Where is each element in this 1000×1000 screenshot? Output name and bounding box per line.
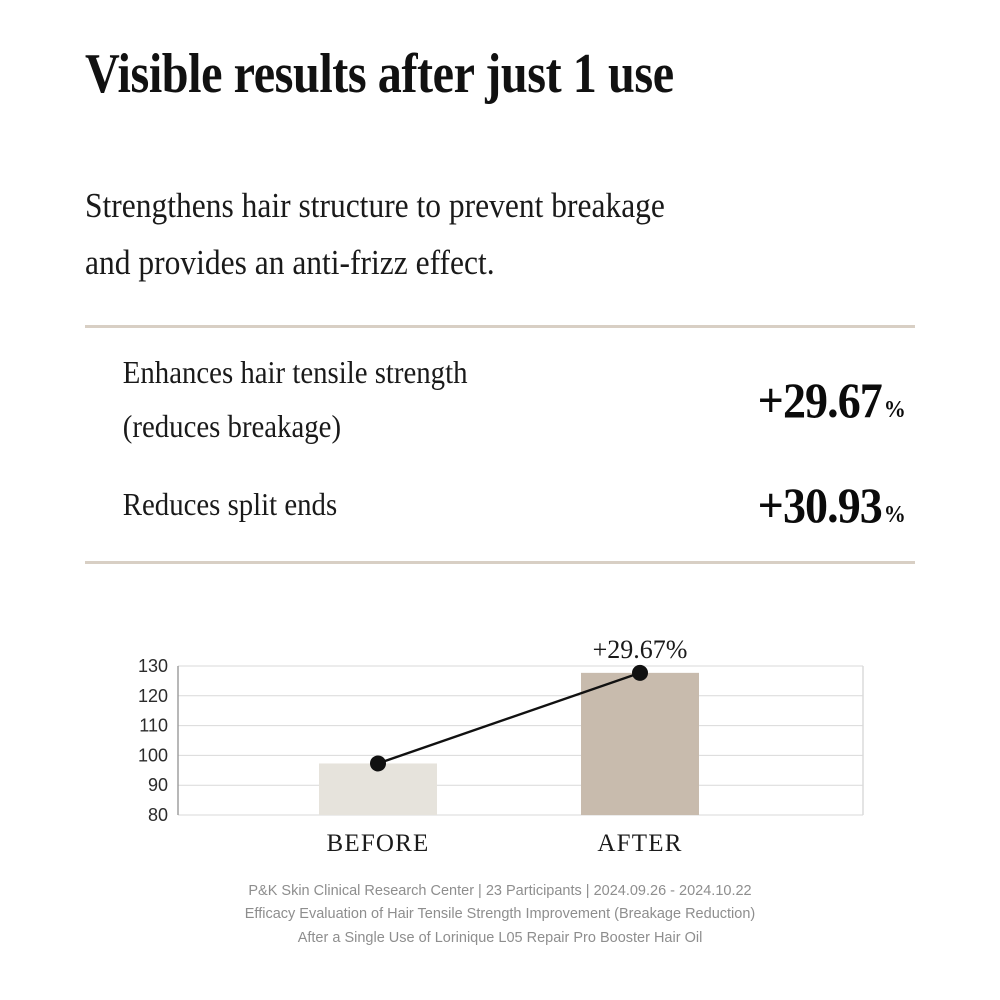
stat-value-number: +29.67: [758, 375, 882, 425]
y-axis-tick-label: 90: [148, 775, 168, 795]
page-subtitle: Strengthens hair structure to prevent br…: [85, 178, 877, 291]
footnote-line-2: Efficacy Evaluation of Hair Tensile Stre…: [0, 903, 1000, 926]
data-point-marker: [632, 665, 648, 681]
chart-container: 8090100110120130BEFOREAFTER+29.67%: [0, 600, 1000, 890]
bar-value-annotation: +29.67%: [593, 635, 688, 664]
stat-row: Enhances hair tensile strength (reduces …: [85, 346, 915, 454]
footnote-line-3: After a Single Use of Lorinique L05 Repa…: [0, 927, 1000, 950]
stat-label: Reduces split ends: [85, 478, 337, 532]
x-axis-category-label: BEFORE: [326, 830, 429, 857]
stat-value: +29.67 %: [758, 375, 915, 425]
subtitle-line-1: Strengthens hair structure to prevent br…: [85, 178, 877, 235]
y-axis-tick-label: 130: [138, 656, 168, 676]
footnote: P&K Skin Clinical Research Center | 23 P…: [0, 880, 1000, 950]
y-axis-tick-label: 80: [148, 805, 168, 825]
divider-top: [85, 325, 915, 328]
y-axis-tick-label: 120: [138, 686, 168, 706]
subtitle-line-2: and provides an anti-frizz effect.: [85, 235, 877, 292]
stat-value: +30.93 %: [758, 480, 915, 530]
stat-label-line-1: Reduces split ends: [123, 478, 337, 532]
footnote-line-1: P&K Skin Clinical Research Center | 23 P…: [0, 880, 1000, 903]
bar-after: [581, 673, 699, 815]
stat-label: Enhances hair tensile strength (reduces …: [85, 346, 467, 454]
divider-bottom: [85, 561, 915, 564]
before-after-bar-chart: 8090100110120130BEFOREAFTER+29.67%: [0, 600, 1000, 890]
stat-value-unit: %: [884, 503, 906, 527]
stat-value-unit: %: [884, 398, 906, 422]
data-point-marker: [370, 755, 386, 771]
stat-label-line-2: (reduces breakage): [123, 400, 468, 454]
stat-label-line-1: Enhances hair tensile strength: [123, 346, 468, 400]
x-axis-category-label: AFTER: [597, 830, 682, 857]
y-axis-tick-label: 110: [139, 716, 168, 736]
stat-row: Reduces split ends +30.93 %: [85, 478, 915, 532]
stats-list: Enhances hair tensile strength (reduces …: [85, 340, 915, 555]
stat-value-number: +30.93: [758, 480, 882, 530]
y-axis-tick-label: 100: [138, 745, 168, 765]
page-title: Visible results after just 1 use: [85, 44, 807, 106]
